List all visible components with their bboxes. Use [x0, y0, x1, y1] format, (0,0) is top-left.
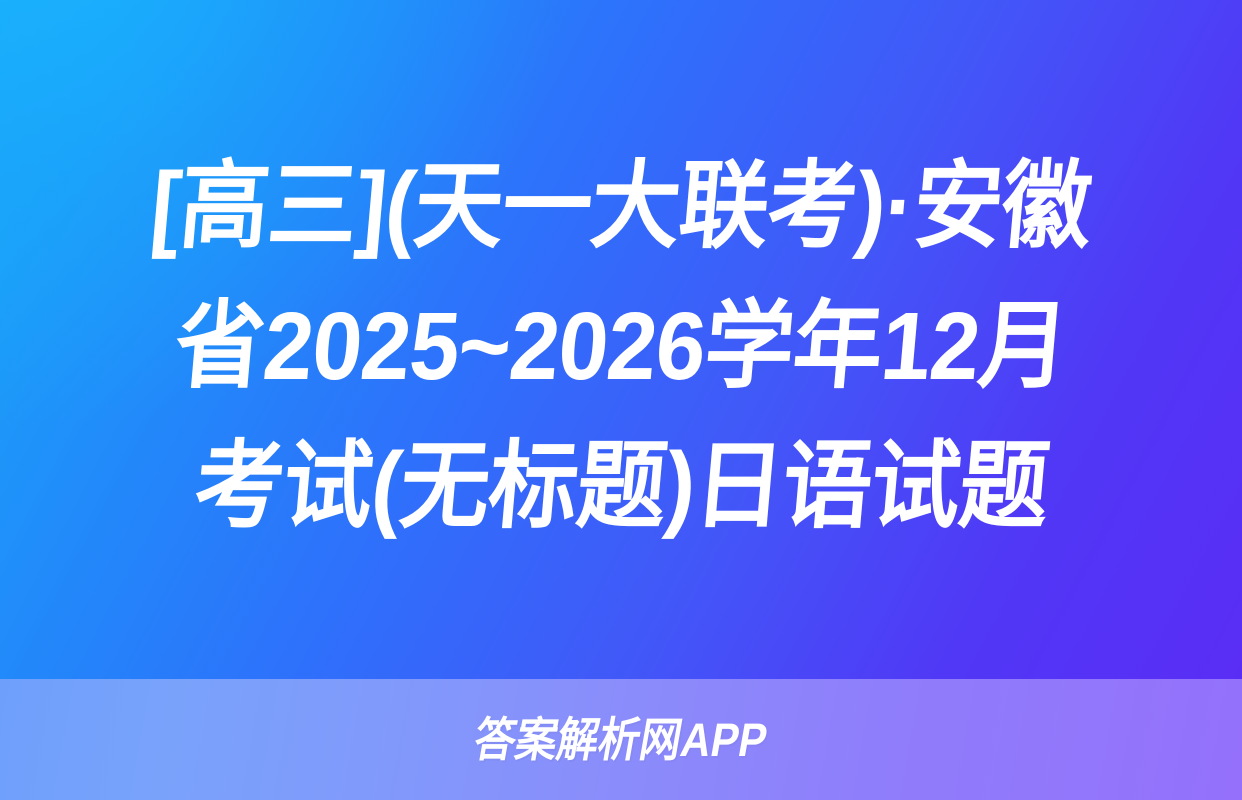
title-line-3: 考试(无标题)日语试题: [188, 417, 1053, 557]
app-watermark-label: 答案解析网APP: [471, 716, 771, 763]
poster-title: [高三](天一大联考)·安徽 省2025~2026学年12月 考试(无标题)日语…: [0, 0, 1242, 679]
footer-watermark-band: 答案解析网APP: [0, 679, 1242, 800]
exam-poster: [高三](天一大联考)·安徽 省2025~2026学年12月 考试(无标题)日语…: [0, 0, 1242, 800]
title-line-2: 省2025~2026学年12月: [169, 277, 1073, 417]
title-line-1: [高三](天一大联考)·安徽: [145, 137, 1096, 277]
